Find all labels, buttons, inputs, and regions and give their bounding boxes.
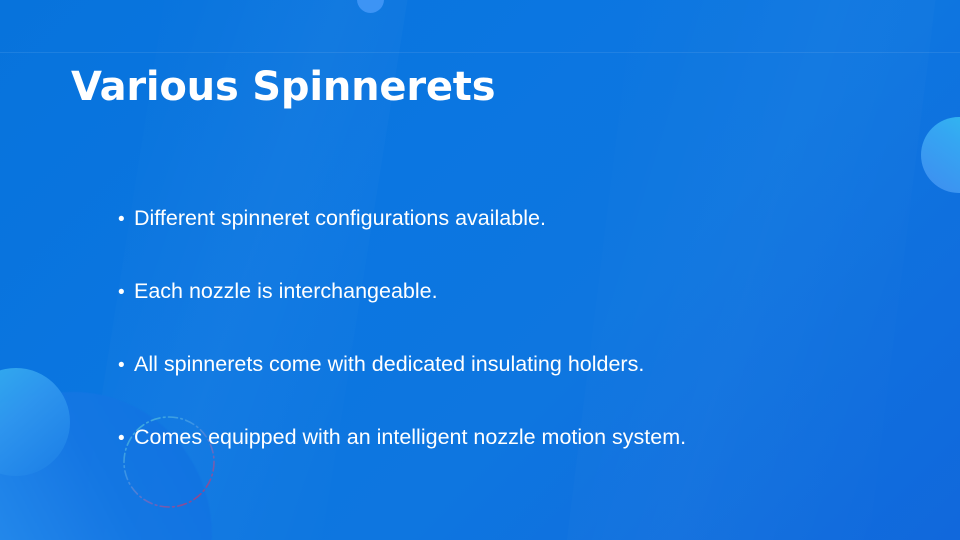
bullet-item: • All spinnerets come with dedicated ins… (118, 349, 918, 422)
bullet-item-label: All spinnerets come with dedicated insul… (134, 349, 644, 379)
circle-left-decoration (0, 368, 70, 476)
bullet-dot-icon: • (118, 351, 134, 381)
bullet-dot-icon: • (118, 278, 134, 308)
bullet-item: • Different spinneret configurations ava… (118, 203, 918, 276)
bullet-item-label: Comes equipped with an intelligent nozzl… (134, 422, 686, 452)
slide-canvas: Various Spinnerets • Different spinneret… (0, 0, 960, 540)
slide-title: Various Spinnerets (71, 62, 495, 112)
top-divider-line (0, 52, 960, 53)
bullet-dot-icon: • (118, 424, 134, 454)
bullet-item-label: Different spinneret configurations avail… (134, 203, 546, 233)
circle-right-decoration (921, 117, 960, 193)
bullet-item: • Each nozzle is interchangeable. (118, 276, 918, 349)
bullet-item-label: Each nozzle is interchangeable. (134, 276, 438, 306)
circle-top-decoration (357, 0, 384, 13)
bullet-list: • Different spinneret configurations ava… (118, 203, 918, 495)
bullet-item: • Comes equipped with an intelligent noz… (118, 422, 918, 495)
bullet-dot-icon: • (118, 205, 134, 235)
